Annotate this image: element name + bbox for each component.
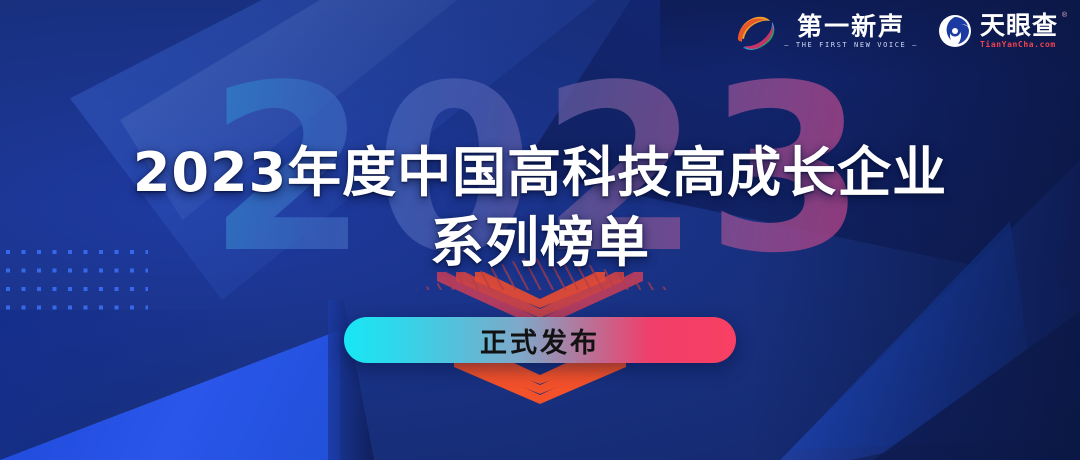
- eye-shutter-logo-icon: [938, 14, 972, 48]
- logo-tianyancha[interactable]: 天眼查 ® TianYanCha.com: [938, 13, 1058, 49]
- page-title-line-2: 系列榜单: [0, 208, 1080, 278]
- logo-diyixinsheng-name: 第一新声: [797, 13, 905, 40]
- logo-diyixinsheng-tagline: — THE FIRST NEW VOICE —: [784, 41, 918, 49]
- logo-tianyancha-text: 天眼查 ® TianYanCha.com: [980, 13, 1058, 49]
- release-status-pill[interactable]: 正式发布: [344, 317, 736, 363]
- page-title-line-1: 2023年度中国高科技高成长企业: [0, 138, 1080, 208]
- page-title: 2023年度中国高科技高成长企业 系列榜单: [0, 138, 1080, 278]
- logo-tianyancha-name: 天眼查: [980, 13, 1058, 39]
- swirl-logo-icon: [736, 12, 776, 50]
- trademark-symbol: ®: [1062, 12, 1067, 19]
- release-status-label: 正式发布: [480, 321, 600, 360]
- logo-diyixinsheng[interactable]: 第一新声 — THE FIRST NEW VOICE —: [736, 12, 918, 50]
- logo-group: 第一新声 — THE FIRST NEW VOICE — 天眼查 ® TianY…: [736, 12, 1058, 50]
- logo-diyixinsheng-text: 第一新声 — THE FIRST NEW VOICE —: [784, 13, 918, 49]
- poster-banner: 2023 2023年度中国高科技高成长企业 系列榜单 正式发布: [0, 0, 1080, 460]
- logo-tianyancha-tagline: TianYanCha.com: [980, 40, 1056, 49]
